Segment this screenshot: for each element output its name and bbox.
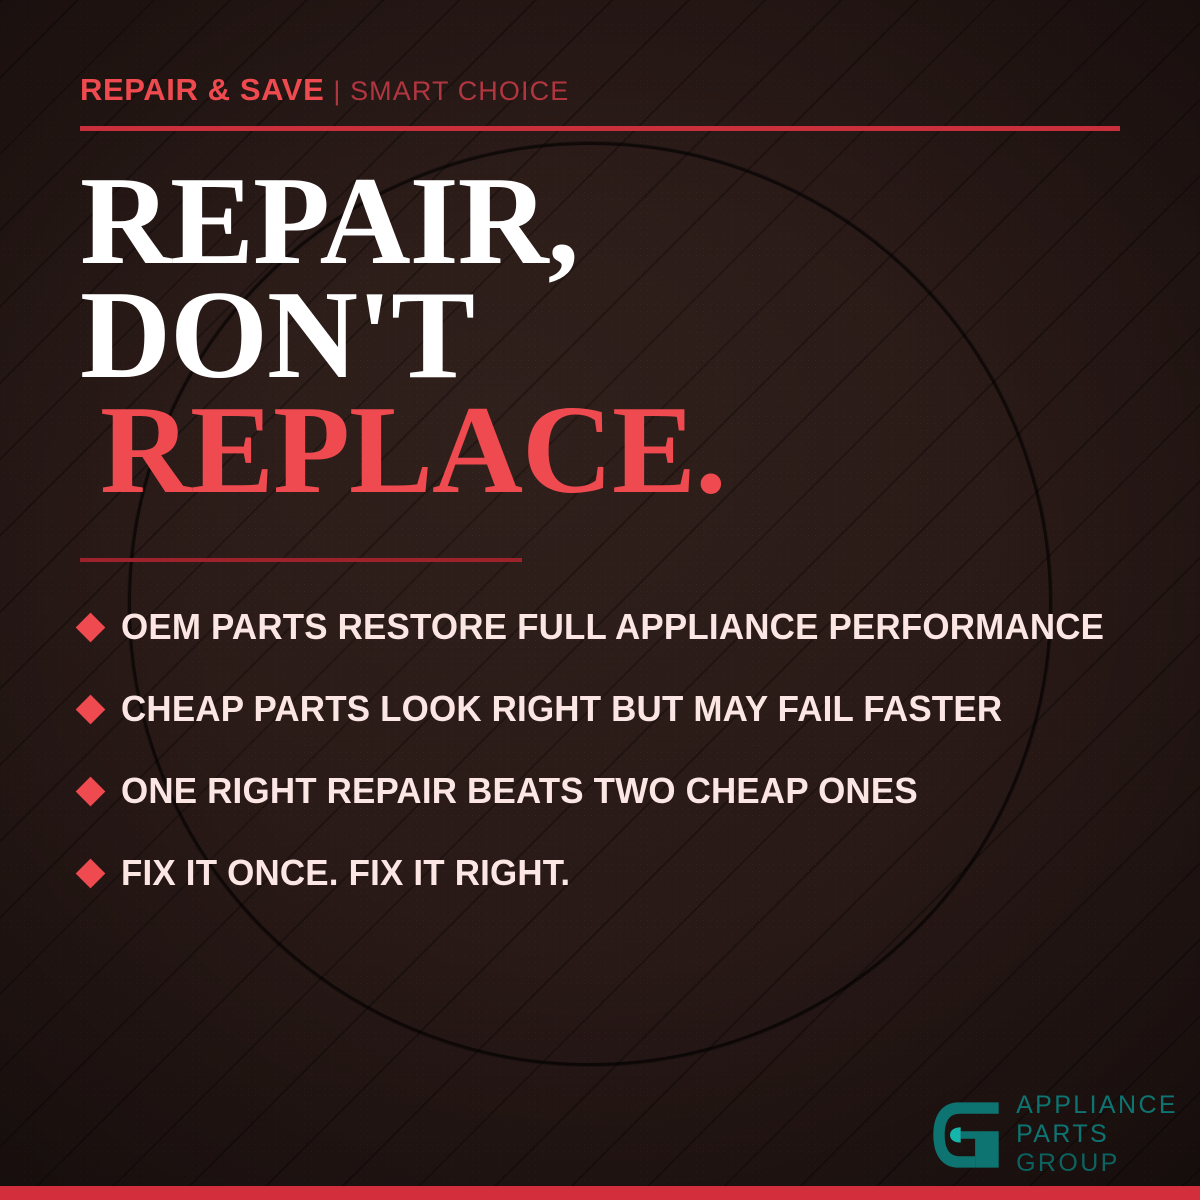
mid-divider-rule [80, 558, 522, 562]
diamond-icon [76, 694, 106, 724]
brand-word-parts: PARTS [1016, 1122, 1178, 1147]
benefits-list: OEM PARTS RESTORE FULL APPLIANCE PERFORM… [80, 586, 1150, 914]
headline: REPAIR, DON'T REPLACE. [80, 162, 726, 511]
list-item: FIX IT ONCE. FIX IT RIGHT. [80, 832, 1150, 914]
list-item-label: FIX IT ONCE. FIX IT RIGHT. [121, 852, 570, 894]
eyebrow-sub-label: | SMART CHOICE [333, 76, 569, 106]
eyebrow: REPAIR & SAVE| SMART CHOICE [80, 74, 569, 105]
list-item-label: OEM PARTS RESTORE FULL APPLIANCE PERFORM… [121, 606, 1104, 648]
list-item-label: ONE RIGHT REPAIR BEATS TWO CHEAP ONES [121, 770, 918, 812]
list-item: OEM PARTS RESTORE FULL APPLIANCE PERFORM… [80, 586, 1150, 668]
list-item: ONE RIGHT REPAIR BEATS TWO CHEAP ONES [80, 750, 1150, 832]
list-item-label: CHEAP PARTS LOOK RIGHT BUT MAY FAIL FAST… [121, 688, 1002, 730]
headline-line-1: REPAIR, [80, 162, 726, 282]
g-monogram-icon [928, 1097, 1004, 1173]
headline-line-2: DON'T [80, 276, 726, 396]
brand-word-appliance: APPLIANCE [1016, 1093, 1178, 1118]
brand-word-group: GROUP [1016, 1151, 1178, 1176]
poster-canvas: REPAIR & SAVE| SMART CHOICE REPAIR, DON'… [0, 0, 1200, 1200]
top-divider-rule [80, 126, 1120, 131]
bottom-accent-bar [0, 1186, 1200, 1200]
diamond-icon [76, 858, 106, 888]
headline-line-3: REPLACE. [100, 391, 726, 511]
diamond-icon [76, 612, 106, 642]
list-item: CHEAP PARTS LOOK RIGHT BUT MAY FAIL FAST… [80, 668, 1150, 750]
eyebrow-main-label: REPAIR & SAVE [80, 72, 324, 107]
brand-logo: APPLIANCE PARTS GROUP [928, 1093, 1178, 1176]
diamond-icon [76, 776, 106, 806]
poster-content: REPAIR & SAVE| SMART CHOICE REPAIR, DON'… [0, 0, 1200, 1200]
brand-logo-wordmark: APPLIANCE PARTS GROUP [1016, 1093, 1178, 1176]
